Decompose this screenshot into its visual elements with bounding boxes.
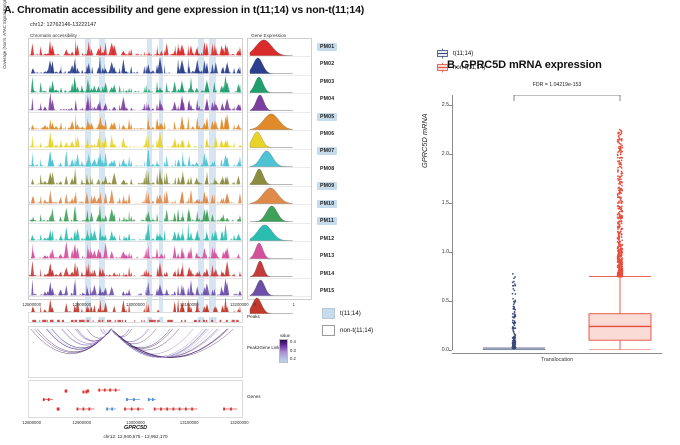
gene-models [29, 381, 242, 417]
atac-track-pm03 [29, 76, 242, 94]
sample-label-cell: PM08 [317, 160, 359, 177]
panel-b-y-tick-5: 2.5 [442, 102, 449, 108]
atac-track-pm14 [29, 279, 242, 297]
value-tick-0: 0.4 [290, 339, 296, 344]
sample-label-cell: PM10 [317, 195, 359, 212]
density-curve [248, 187, 311, 204]
atac-track-pm07 [29, 150, 242, 168]
expression-density-pm12 [248, 242, 311, 260]
value-tick-2: 0.2 [290, 356, 296, 361]
atac-signal-pm04 [29, 94, 242, 111]
sample-label-cell: PM09 [317, 178, 359, 195]
genomic-tick-0: 12800000 [22, 302, 41, 307]
density-curve [248, 39, 311, 56]
atac-signal-pm01 [29, 39, 242, 56]
atac-track-pm05 [29, 113, 242, 131]
density-curve [248, 168, 311, 185]
sample-label-cell: PM02 [317, 55, 359, 72]
genomic-tick-1: 12900000 [72, 302, 91, 307]
sample-id-pm05: PM05 [317, 113, 337, 121]
fdr-annotation: FDR = 1.04219e-153 [452, 82, 662, 88]
sample-id-pm12: PM12 [317, 235, 337, 243]
sample-id-pm01: PM01 [317, 43, 337, 51]
sample-id-pm03: PM03 [317, 78, 337, 86]
sample-label-cell: PM12 [317, 230, 359, 247]
sample-label-cell: PM03 [317, 73, 359, 90]
boxplot-svg [452, 95, 662, 350]
atac-signal-pm08 [29, 168, 242, 185]
density-curve [248, 76, 311, 93]
expression-tick-1: 1 [293, 302, 295, 307]
atac-signal-pm03 [29, 76, 242, 93]
boxplot-area: FDR = 1.04219e-153 0.00.51.01.52.02.5 [452, 95, 662, 350]
atac-signal-pm14 [29, 279, 242, 296]
value-colorbar [279, 339, 288, 363]
atac-track-pm02 [29, 57, 242, 75]
genomic-axis: 1280000012900000130000001310000013200000 [28, 300, 243, 312]
panel-b-y-tick-1: 0.5 [442, 298, 449, 304]
sample-id-pm09: PM09 [317, 182, 337, 190]
expression-density-pm09 [248, 187, 311, 205]
density-curve [248, 242, 311, 259]
sample-id-pm06: PM06 [317, 130, 337, 138]
panel-b-legend-label: non-t(11;14) [453, 65, 485, 71]
sample-id-pm08: PM08 [317, 165, 337, 173]
expression-density-pm02 [248, 57, 311, 75]
legend-label: non-t(11;14) [340, 327, 373, 334]
atac-track-pm06 [29, 131, 242, 149]
panel-b-legend-item-non-t1114: non-t(11;14) [436, 62, 485, 73]
expression-density-pm08 [248, 168, 311, 186]
atac-track-pm01 [29, 39, 242, 57]
density-curve [248, 94, 311, 111]
expression-density-pm05 [248, 113, 311, 131]
genomic-tick-4: 13200000 [230, 302, 249, 307]
translocation-legend: t(11;14)non-t(11;14) [322, 308, 373, 342]
peak2gene-links-label: Peak2Gene Links [247, 345, 282, 351]
gene-expression-container [247, 38, 312, 300]
atac-track-pm04 [29, 94, 242, 112]
boxplot-t1114 [483, 273, 545, 350]
panel-b-y-tick-3: 1.5 [442, 200, 449, 206]
sample-label-cell: PM05 [317, 108, 359, 125]
sample-label-cell: PM06 [317, 125, 359, 142]
expression-density-pm13 [248, 260, 311, 278]
atac-track-pm11 [29, 224, 242, 242]
atac-track-container [28, 38, 243, 300]
expression-density-pm14 [248, 279, 311, 297]
expression-density-pm06 [248, 131, 311, 149]
sample-id-pm02: PM02 [317, 60, 337, 68]
sample-id-pm10: PM10 [317, 200, 337, 208]
atac-track-pm12 [29, 242, 242, 260]
atac-signal-pm07 [29, 150, 242, 167]
panel-b-y-tick-2: 1.0 [442, 249, 449, 255]
sample-id-pm14: PM14 [317, 270, 337, 278]
atac-signal-pm06 [29, 131, 242, 148]
sample-id-pm13: PM13 [317, 252, 337, 260]
atac-track-pm08 [29, 168, 242, 186]
legend-label: t(11;14) [340, 310, 361, 317]
density-curve [248, 150, 311, 167]
expression-density-pm07 [248, 150, 311, 168]
atac-signal-pm13 [29, 260, 242, 277]
expression-density-pm11 [248, 224, 311, 242]
density-curve [248, 57, 311, 74]
peak-marks [29, 317, 242, 323]
panel-b-x-axis-label: Translocation [452, 357, 662, 363]
genomic-tick-2: 13000000 [126, 302, 145, 307]
panel-b-y-tick-0: 0.0 [442, 347, 449, 353]
sample-label-cell: PM01 [317, 38, 359, 55]
atac-track-pm10 [29, 205, 242, 223]
panel-b-y-tick-4: 2.0 [442, 151, 449, 157]
peak2gene-arcs [29, 327, 242, 377]
panel-b-tick-mark [449, 350, 452, 351]
expression-tick-0: 0 [254, 302, 256, 307]
sample-id-pm07: PM07 [317, 147, 337, 155]
panel-b: GPRC5D mRNA FDR = 1.04219e-153 0.00.51.0… [412, 0, 680, 445]
sample-id-pm04: PM04 [317, 95, 337, 103]
sample-label-cell: PM07 [317, 143, 359, 160]
sample-label-cell: PM11 [317, 213, 359, 230]
atac-signal-pm12 [29, 242, 242, 259]
density-curve [248, 260, 311, 277]
x-axis-line [452, 353, 662, 354]
density-curve [248, 113, 311, 130]
value-colorbar-ticks: 0.40.30.2 [290, 339, 296, 361]
focus-gene-coordinates: chr12: 12,940,575 - 12,952,170 [28, 434, 243, 439]
expression-density-pm04 [248, 94, 311, 112]
sample-label-cell: PM13 [317, 247, 359, 264]
genes-label: Genes [247, 394, 261, 399]
genomic-coordinates: chr12: 12762146-13222147 [30, 22, 96, 28]
value-tick-1: 0.3 [290, 348, 296, 353]
legend-item-translocation: t(11;14) [322, 308, 373, 319]
value-colorbar-legend: value 0.40.30.2 [279, 333, 296, 363]
sample-label-cell: PM15 [317, 282, 359, 299]
panel-b-legend-label: t(11;14) [453, 51, 473, 57]
legend-item-non-translocation: non-t(11;14) [322, 325, 373, 336]
atac-track-pm13 [29, 260, 242, 278]
atac-signal-pm05 [29, 113, 242, 130]
atac-signal-pm10 [29, 205, 242, 222]
expression-density-pm10 [248, 205, 311, 223]
atac-signal-pm09 [29, 187, 242, 204]
sample-id-pm11: PM11 [317, 217, 337, 225]
sample-label-column: PM01PM02PM03PM04PM05PM06PM07PM08PM09PM10… [317, 38, 359, 300]
boxplot-non-t1114 [589, 129, 651, 350]
legend-swatch [322, 325, 335, 336]
legend-swatch [322, 308, 335, 319]
peaks-label: Peaks [247, 314, 260, 319]
value-legend-title: value [280, 333, 296, 338]
sample-label-cell: PM14 [317, 265, 359, 282]
p2g-line1: Peak2Gene Links [247, 345, 282, 351]
density-curve [248, 224, 311, 241]
density-curve [248, 279, 311, 296]
sample-label-cell: PM04 [317, 90, 359, 107]
genes-track [28, 380, 243, 418]
panel-b-legend-item-t1114: t(11;14) [436, 48, 485, 59]
focus-gene-name: GPRC5D [28, 425, 243, 431]
legend-boxplot-icon [436, 48, 449, 59]
expression-axis: 01 [247, 300, 312, 312]
expression-density-pm03 [248, 76, 311, 94]
sample-id-pm15: PM15 [317, 287, 337, 295]
boxplot-legend: t(11;14)non-t(11;14) [436, 48, 485, 76]
genomic-tick-3: 13100000 [180, 302, 199, 307]
peaks-track [28, 312, 243, 323]
panel-b-y-axis-label: GPRC5D mRNA [420, 113, 429, 168]
peak2gene-links-track [28, 326, 243, 378]
legend-boxplot-icon [436, 62, 449, 73]
panel-a: chr12: 12762146-13222147 Chromatin acces… [0, 0, 412, 445]
density-curve [248, 131, 311, 148]
coverage-axis-label: Coverage (Norm. ATAC Signal Range (0-0.2… [2, 0, 14, 95]
atac-track-pm09 [29, 187, 242, 205]
expression-density-pm01 [248, 39, 311, 57]
atac-signal-pm11 [29, 224, 242, 241]
density-curve [248, 205, 311, 222]
atac-signal-pm02 [29, 57, 242, 74]
